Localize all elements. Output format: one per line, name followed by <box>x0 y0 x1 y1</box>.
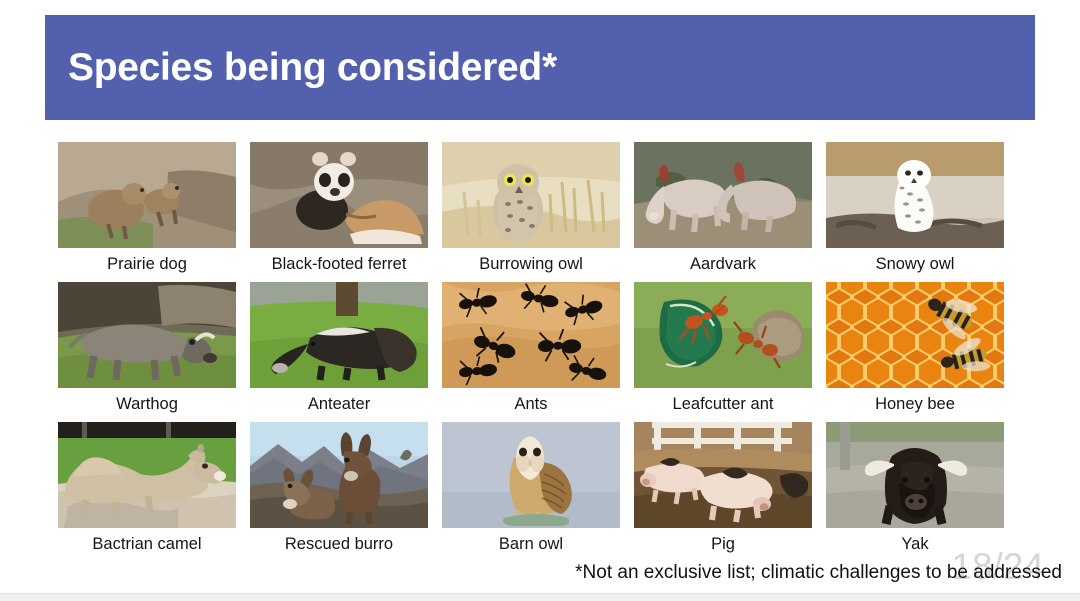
bactrian-camel-photo <box>58 422 236 528</box>
species-cell-burrowing-owl[interactable]: Burrowing owl <box>442 142 620 282</box>
title-banner: Species being considered* <box>45 15 1035 120</box>
slide-canvas: Species being considered* <box>0 0 1080 593</box>
species-cell-snowy-owl[interactable]: Snowy owl <box>826 142 1004 282</box>
species-label: Prairie dog <box>107 254 187 274</box>
species-cell-anteater[interactable]: Anteater <box>250 282 428 422</box>
anteater-photo <box>250 282 428 388</box>
species-label: Pig <box>711 534 735 554</box>
species-label: Snowy owl <box>876 254 955 274</box>
species-cell-ants[interactable]: Ants <box>442 282 620 422</box>
species-label: Ants <box>514 394 547 414</box>
species-cell-bactrian-camel[interactable]: Bactrian camel <box>58 422 236 562</box>
species-cell-yak[interactable]: Yak <box>826 422 1004 562</box>
pig-photo <box>634 422 812 528</box>
barn-owl-photo <box>442 422 620 528</box>
species-cell-pig[interactable]: Pig <box>634 422 812 562</box>
species-cell-leafcutter-ant[interactable]: Leafcutter ant <box>634 282 812 422</box>
species-cell-aardvark[interactable]: Aardvark <box>634 142 812 282</box>
rescued-burro-photo <box>250 422 428 528</box>
ants-photo <box>442 282 620 388</box>
warthog-photo <box>58 282 236 388</box>
page-title: Species being considered* <box>68 46 557 90</box>
honey-bee-photo <box>826 282 1004 388</box>
black-footed-ferret-photo <box>250 142 428 248</box>
species-label: Yak <box>901 534 928 554</box>
species-label: Rescued burro <box>285 534 393 554</box>
species-label: Anteater <box>308 394 370 414</box>
species-label: Leafcutter ant <box>673 394 774 414</box>
prairie-dog-photo <box>58 142 236 248</box>
species-cell-rescued-burro[interactable]: Rescued burro <box>250 422 428 562</box>
species-label: Bactrian camel <box>92 534 201 554</box>
leafcutter-ant-photo <box>634 282 812 388</box>
burrowing-owl-photo <box>442 142 620 248</box>
species-cell-black-footed-ferret[interactable]: Black-footed ferret <box>250 142 428 282</box>
species-label: Burrowing owl <box>479 254 583 274</box>
grid-row: Bactrian camel <box>58 422 1008 562</box>
species-cell-honey-bee[interactable]: Honey bee <box>826 282 1004 422</box>
yak-photo <box>826 422 1004 528</box>
species-grid: Prairie dog <box>58 142 1008 562</box>
grid-row: Warthog <box>58 282 1008 422</box>
species-label: Warthog <box>116 394 178 414</box>
species-label: Black-footed ferret <box>272 254 407 274</box>
species-cell-prairie-dog[interactable]: Prairie dog <box>58 142 236 282</box>
footnote: *Not an exclusive list; climatic challen… <box>575 562 1062 584</box>
species-cell-barn-owl[interactable]: Barn owl <box>442 422 620 562</box>
aardvark-photo <box>634 142 812 248</box>
snowy-owl-photo <box>826 142 1004 248</box>
bottom-chrome-strip <box>0 593 1080 601</box>
species-cell-warthog[interactable]: Warthog <box>58 282 236 422</box>
species-label: Honey bee <box>875 394 955 414</box>
species-label: Aardvark <box>690 254 756 274</box>
species-label: Barn owl <box>499 534 563 554</box>
grid-row: Prairie dog <box>58 142 1008 282</box>
